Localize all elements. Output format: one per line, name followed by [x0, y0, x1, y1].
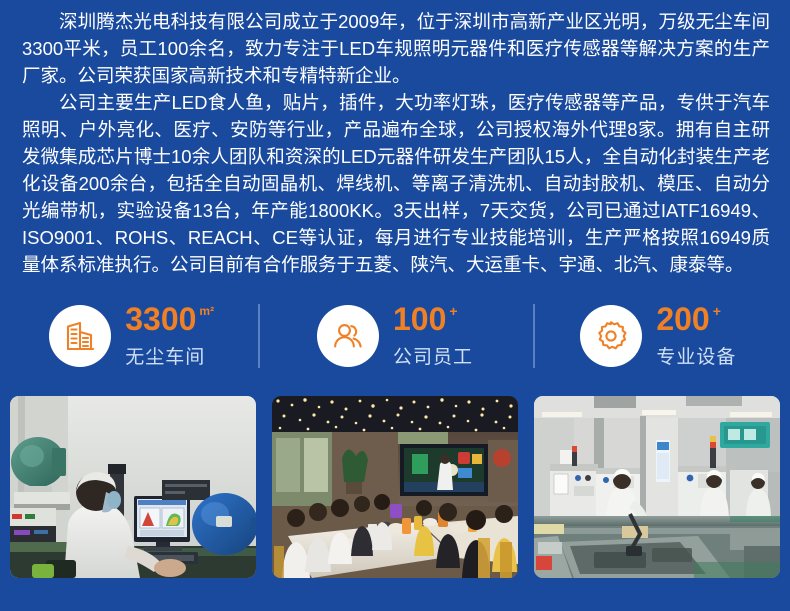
stat-value: 3300 — [125, 303, 196, 335]
gear-icon — [594, 319, 628, 353]
photo-company-banquet — [272, 396, 518, 578]
photo-lab-testing — [10, 396, 256, 578]
stat-label: 公司员工 — [393, 342, 473, 369]
stat-icon-badge — [49, 305, 111, 367]
stats-strip: 3300 m² 无尘车间 100 — [0, 292, 790, 380]
photo-gallery — [10, 396, 780, 578]
company-intro: 深圳腾杰光电科技有限公司成立于2009年，位于深圳市高新产业区光明，万级无尘车间… — [22, 8, 770, 278]
stat-item-employees: 100 + 公司员工 — [263, 292, 526, 380]
building-icon — [63, 319, 97, 353]
people-icon — [331, 319, 365, 353]
stat-divider — [258, 304, 260, 368]
stat-item-cleanroom: 3300 m² 无尘车间 — [0, 292, 263, 380]
stat-unit: + — [713, 304, 721, 318]
stat-icon-badge — [580, 305, 642, 367]
photo-cleanroom-production — [534, 396, 780, 578]
stat-value: 100 — [393, 303, 446, 335]
stat-value: 200 — [656, 303, 709, 335]
stat-divider — [533, 304, 535, 368]
intro-paragraph-2: 公司主要生产LED食人鱼，贴片，插件，大功率灯珠，医疗传感器等产品，专供于汽车照… — [22, 89, 770, 278]
stat-icon-badge — [317, 305, 379, 367]
stat-unit: m² — [199, 304, 214, 318]
stat-item-equipment: 200 + 专业设备 — [527, 292, 790, 380]
intro-paragraph-1: 深圳腾杰光电科技有限公司成立于2009年，位于深圳市高新产业区光明，万级无尘车间… — [22, 8, 770, 89]
stat-label: 专业设备 — [656, 342, 736, 369]
stat-label: 无尘车间 — [125, 342, 205, 369]
stat-unit: + — [449, 304, 457, 318]
